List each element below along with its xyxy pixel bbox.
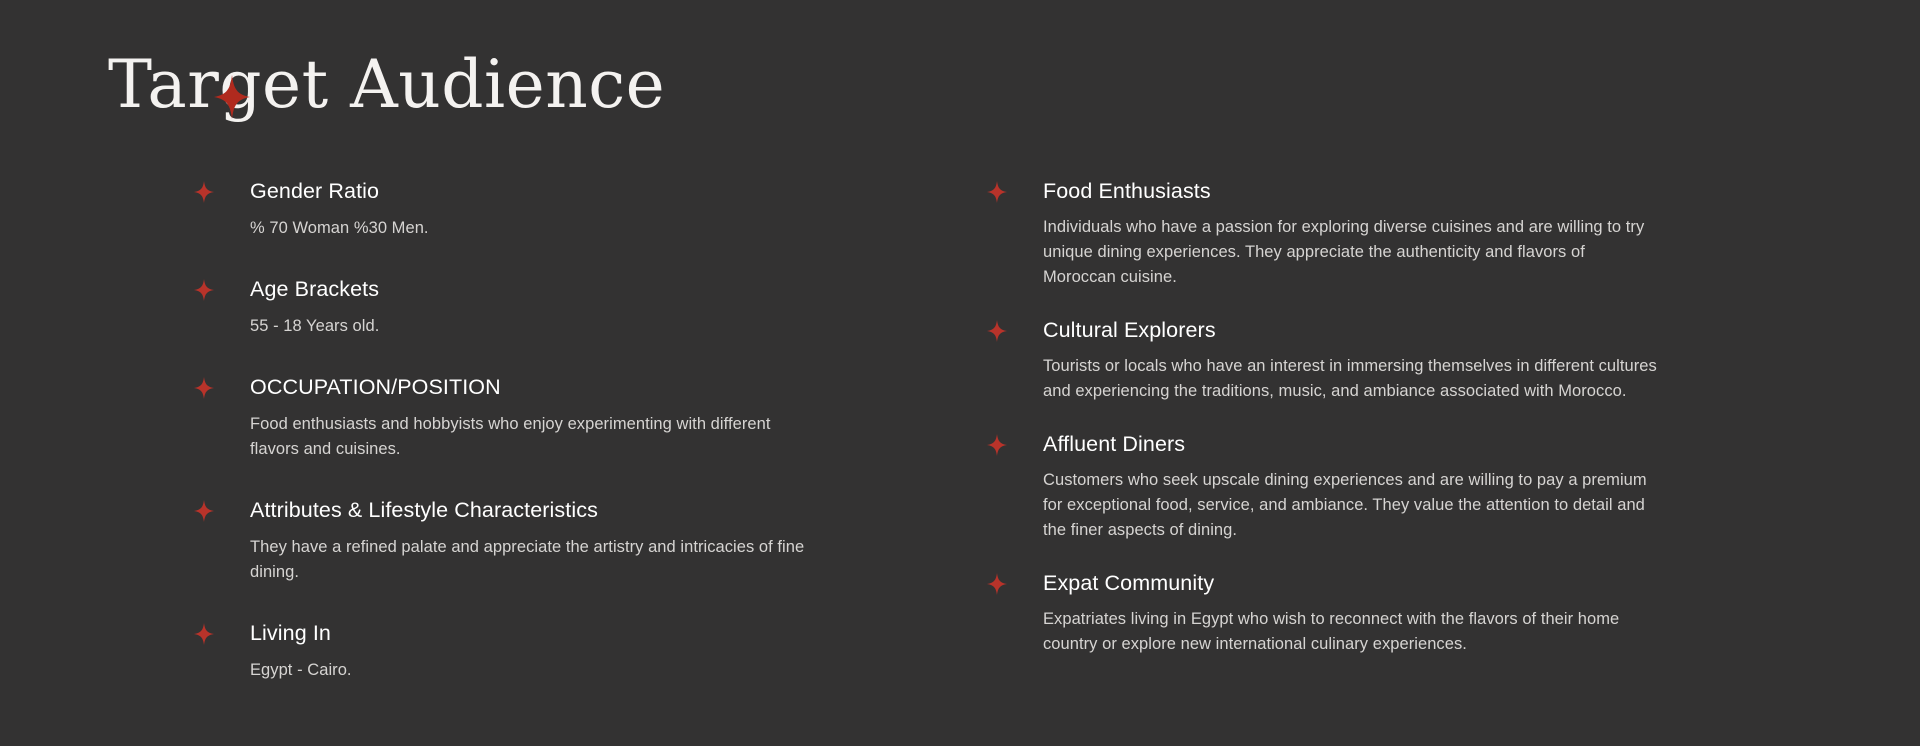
slide-root: Target Audience Gender Ratio % 70 Woman … (0, 0, 1920, 746)
sparkle-icon (987, 573, 1007, 595)
list-item-body: Tourists or locals who have an interest … (1043, 354, 1661, 404)
list-item-title: OCCUPATION/POSITION (250, 374, 808, 400)
page-title: Target Audience (108, 46, 665, 124)
sparkle-icon (194, 500, 214, 522)
sparkle-icon (194, 181, 214, 203)
list-item: Age Brackets 55 - 18 Years old. (188, 276, 808, 339)
list-item-title: Food Enthusiasts (1043, 178, 1661, 204)
content-columns: Gender Ratio % 70 Woman %30 Men. Age Bra… (0, 178, 1920, 683)
list-item-body: Customers who seek upscale dining experi… (1043, 468, 1661, 543)
sparkle-icon (987, 434, 1007, 456)
list-item-body: Egypt - Cairo. (250, 658, 808, 683)
left-column: Gender Ratio % 70 Woman %30 Men. Age Bra… (188, 178, 808, 683)
right-column: Food Enthusiasts Individuals who have a … (981, 178, 1661, 683)
sparkle-icon (987, 320, 1007, 342)
list-item: Expat Community Expatriates living in Eg… (981, 570, 1661, 657)
list-item-title: Cultural Explorers (1043, 317, 1661, 343)
list-item-body: They have a refined palate and appreciat… (250, 535, 808, 585)
list-item-body: 55 - 18 Years old. (250, 314, 808, 339)
list-item: Affluent Diners Customers who seek upsca… (981, 431, 1661, 543)
list-item-title: Affluent Diners (1043, 431, 1661, 457)
list-item: Food Enthusiasts Individuals who have a … (981, 178, 1661, 290)
list-item-body: Food enthusiasts and hobbyists who enjoy… (250, 412, 808, 462)
list-item-body: Expatriates living in Egypt who wish to … (1043, 607, 1661, 657)
list-item-title: Gender Ratio (250, 178, 808, 204)
sparkle-icon (194, 279, 214, 301)
list-item-title: Living In (250, 620, 808, 646)
sparkle-icon (194, 623, 214, 645)
list-item: Gender Ratio % 70 Woman %30 Men. (188, 178, 808, 241)
list-item: Living In Egypt - Cairo. (188, 620, 808, 683)
sparkle-icon (194, 377, 214, 399)
list-item-title: Attributes & Lifestyle Characteristics (250, 497, 808, 523)
page-title-block: Target Audience (108, 46, 665, 124)
list-item: Cultural Explorers Tourists or locals wh… (981, 317, 1661, 404)
list-item-body: % 70 Woman %30 Men. (250, 216, 808, 241)
list-item-body: Individuals who have a passion for explo… (1043, 215, 1661, 290)
list-item: Attributes & Lifestyle Characteristics T… (188, 497, 808, 585)
list-item-title: Age Brackets (250, 276, 808, 302)
list-item: OCCUPATION/POSITION Food enthusiasts and… (188, 374, 808, 462)
list-item-title: Expat Community (1043, 570, 1661, 596)
sparkle-icon (987, 181, 1007, 203)
